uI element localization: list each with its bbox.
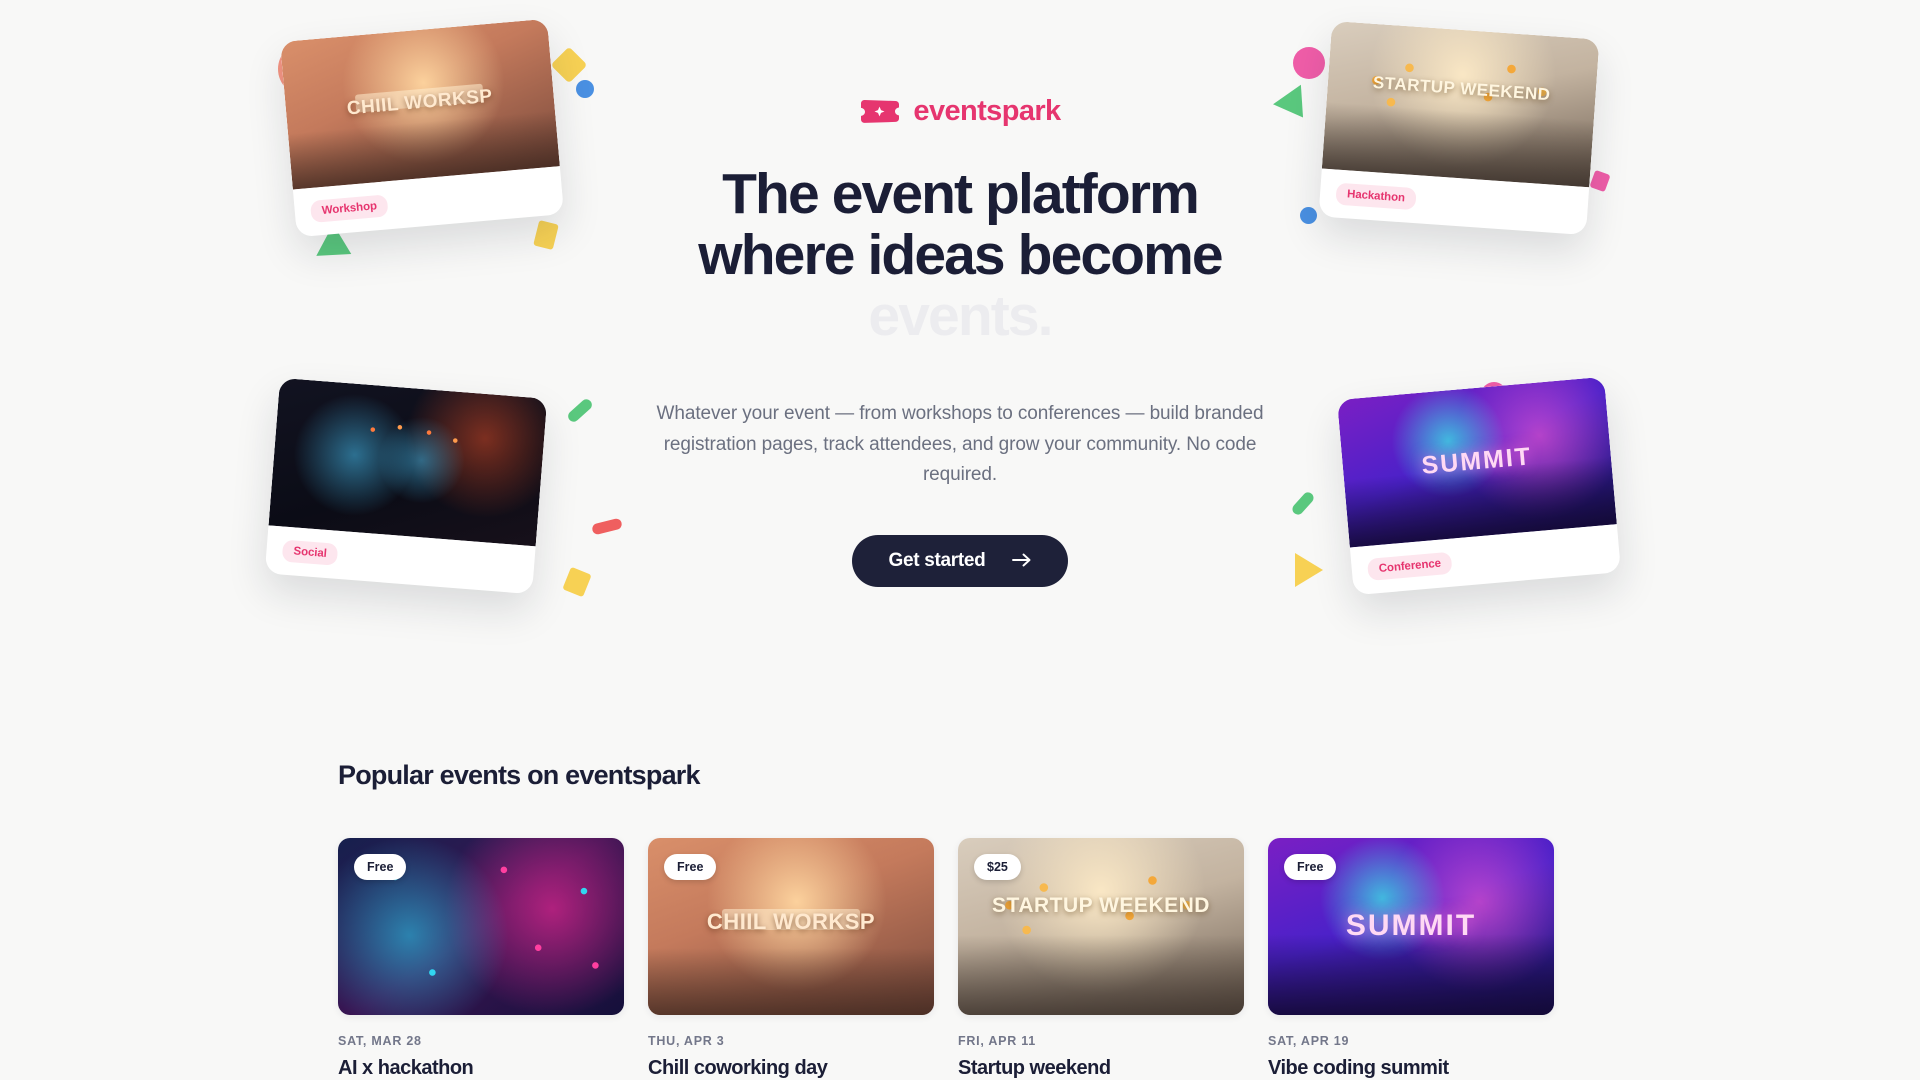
category-badge: Social xyxy=(282,540,339,566)
hero-title-line-3: events. xyxy=(868,284,1051,348)
floating-card-conference[interactable]: SUMMIT Conference xyxy=(1337,377,1621,596)
hero-subtitle: Whatever your event — from workshops to … xyxy=(630,399,1290,491)
event-thumbnail: Free xyxy=(338,838,624,1015)
confetti-diamond-yellow xyxy=(551,47,588,84)
price-badge: Free xyxy=(664,854,716,880)
card-thumbnail: STARTUP WEEKEND xyxy=(1322,21,1600,187)
event-date: SAT, APR 19 xyxy=(1268,1034,1554,1048)
event-card[interactable]: Free SAT, MAR 28 AI x hackathon xyxy=(338,838,624,1080)
brand-name: eventspark xyxy=(913,95,1060,128)
event-card[interactable]: STARTUP WEEKEND $25 FRI, APR 11 Startup … xyxy=(958,838,1244,1080)
hero-title-line-2: where ideas become xyxy=(698,223,1221,287)
event-date: THU, APR 3 xyxy=(648,1034,934,1048)
get-started-label: Get started xyxy=(888,550,985,572)
confetti-square-yellow xyxy=(533,220,559,250)
event-card[interactable]: SUMMIT Free SAT, APR 19 Vibe coding summ… xyxy=(1268,838,1554,1080)
arrow-right-icon xyxy=(1012,551,1032,571)
confetti-circle-pink xyxy=(1293,47,1325,79)
event-thumbnail: STARTUP WEEKEND $25 xyxy=(958,838,1244,1015)
floating-card-social[interactable]: Social xyxy=(265,378,548,594)
event-title: Chill coworking day xyxy=(648,1057,934,1080)
card-thumbnail: SUMMIT xyxy=(1337,377,1617,548)
card-thumbnail xyxy=(268,378,547,547)
section-title: Popular events on eventspark xyxy=(338,760,1920,791)
event-title: Vibe coding summit xyxy=(1268,1057,1554,1080)
confetti-circle-blue xyxy=(576,80,594,98)
event-title: Startup weekend xyxy=(958,1057,1244,1080)
confetti-bar-green-right xyxy=(1290,490,1316,517)
event-thumbnail: CHIIL WORKSP Free xyxy=(648,838,934,1015)
hero-title-line-1: The event platform xyxy=(722,162,1198,226)
event-date: FRI, APR 11 xyxy=(958,1034,1244,1048)
popular-events-section: Popular events on eventspark Free SAT, M… xyxy=(0,760,1920,1080)
card-thumbnail: CHIIL WORKSP xyxy=(280,19,560,190)
get-started-button[interactable]: Get started xyxy=(852,535,1067,587)
category-badge: Conference xyxy=(1367,552,1453,581)
event-date: SAT, MAR 28 xyxy=(338,1034,624,1048)
confetti-triangle-yellow-right xyxy=(1295,553,1323,587)
brand-logo[interactable]: eventspark xyxy=(630,95,1290,128)
category-badge: Workshop xyxy=(310,194,389,223)
event-grid: Free SAT, MAR 28 AI x hackathon CHIIL WO… xyxy=(338,838,1614,1080)
ticket-icon xyxy=(859,98,901,125)
confetti-bar-green xyxy=(566,397,594,424)
confetti-square-pink-right xyxy=(1589,170,1610,192)
price-badge: Free xyxy=(1284,854,1336,880)
price-badge: Free xyxy=(354,854,406,880)
page-title: The event platform where ideas become ev… xyxy=(630,164,1290,347)
confetti-square-yellow-left xyxy=(562,567,591,597)
event-title: AI x hackathon xyxy=(338,1057,624,1080)
floating-card-hackathon[interactable]: STARTUP WEEKEND Hackathon xyxy=(1318,21,1599,235)
event-card[interactable]: CHIIL WORKSP Free THU, APR 3 Chill cowor… xyxy=(648,838,934,1080)
event-thumbnail: SUMMIT Free xyxy=(1268,838,1554,1015)
confetti-bar-red xyxy=(591,518,623,536)
floating-card-workshop[interactable]: CHIIL WORKSP Workshop xyxy=(280,19,564,238)
confetti-circle-blue-right xyxy=(1300,207,1317,224)
category-badge: Hackathon xyxy=(1335,183,1416,211)
hero-section: CHIIL WORKSP Workshop STARTUP WEEKEND Ha… xyxy=(0,0,1920,700)
price-badge: $25 xyxy=(974,854,1021,880)
